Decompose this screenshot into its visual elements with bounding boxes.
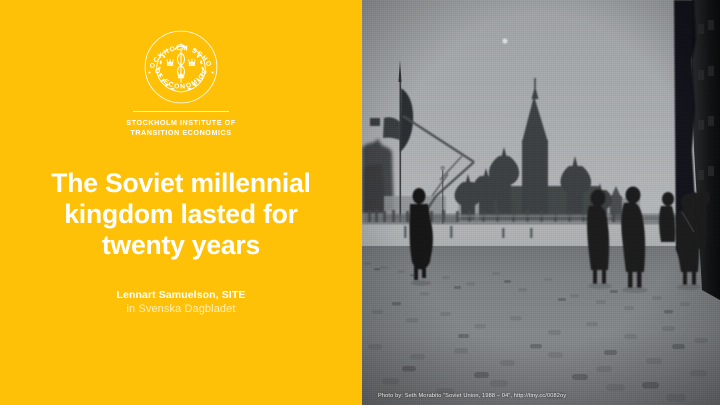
byline: Lennart Samuelson, SITE in Svenska Dagbl… [0, 288, 362, 317]
logo-divider [133, 111, 229, 112]
photo-red-square: Photo by: Seth Morabito “Soviet Union, 1… [362, 0, 720, 405]
stockholm-school-of-economics-seal-icon: STOCKHOLM SCHOOL OF ECONOMICS [142, 28, 220, 106]
page-title: The Soviet millennial kingdom lasted for… [0, 168, 362, 261]
byline-publication: in Svenska Dagbladet [0, 302, 362, 317]
byline-author: Lennart Samuelson, SITE [0, 288, 362, 302]
photo-credit: Photo by: Seth Morabito “Soviet Union, 1… [378, 393, 566, 399]
institute-name: STOCKHOLM INSTITUTE OF TRANSITION ECONOM… [126, 118, 235, 139]
title-panel: STOCKHOLM SCHOOL OF ECONOMICS [0, 0, 362, 405]
presentation-slide: Photo by: Seth Morabito “Soviet Union, 1… [0, 0, 720, 405]
logo-block: STOCKHOLM SCHOOL OF ECONOMICS [0, 28, 362, 139]
